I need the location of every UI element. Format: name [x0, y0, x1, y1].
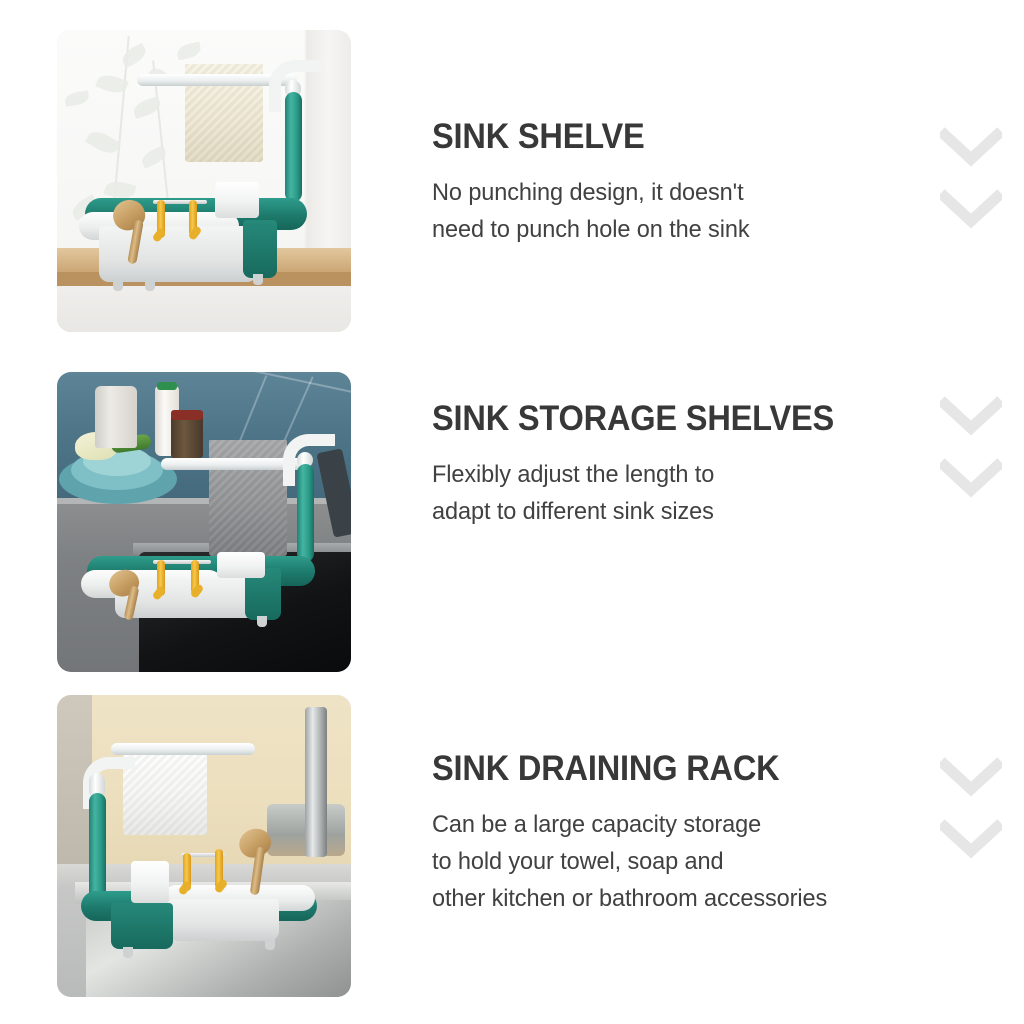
product-photo-sink-shelve	[57, 30, 351, 332]
feature-title: SINK STORAGE SHELVES	[432, 400, 897, 438]
feature-title: SINK SHELVE	[432, 118, 897, 156]
feature-row: SINK SHELVE No punching design, it doesn…	[0, 30, 1024, 332]
feature-description: No punching design, it doesn't need to p…	[432, 174, 912, 248]
feature-description: Flexibly adjust the length to adapt to d…	[432, 456, 912, 530]
basin-foot	[257, 616, 267, 627]
chevron-stack	[940, 125, 1010, 249]
feature-description: Can be a large capacity storage to hold …	[432, 806, 912, 917]
basin-foot	[145, 280, 155, 291]
chevron-down-icon	[940, 755, 1002, 799]
chevron-down-icon	[940, 394, 1002, 438]
product-photo-sink-storage-shelves	[57, 372, 351, 672]
towel	[123, 745, 207, 835]
feature-row: SINK DRAINING RACK Can be a large capaci…	[0, 695, 1024, 997]
feature-row: SINK STORAGE SHELVES Flexibly adjust the…	[0, 372, 1024, 672]
basin-foot	[265, 939, 275, 950]
basin-white	[99, 226, 257, 282]
sink-caddy-product	[57, 372, 351, 672]
post-green-section	[285, 92, 302, 202]
basin-foot	[253, 274, 263, 285]
post-green-section	[297, 464, 314, 562]
chevron-down-icon	[940, 125, 1002, 169]
basin-green-end	[243, 220, 277, 278]
sponge	[131, 861, 169, 903]
sink-caddy-product	[57, 695, 351, 997]
feature-title: SINK DRAINING RACK	[432, 750, 897, 788]
feature-text-column: SINK DRAINING RACK Can be a large capaci…	[432, 750, 932, 917]
basin-green-end	[111, 903, 173, 949]
towel-bar	[111, 743, 255, 755]
basin-white	[169, 899, 279, 941]
basin-foot	[113, 280, 123, 291]
basin-foot	[123, 947, 133, 958]
sponge	[217, 552, 265, 578]
product-photo-sink-draining-rack	[57, 695, 351, 997]
chevron-stack	[940, 755, 1010, 879]
infographic-page: SINK SHELVE No punching design, it doesn…	[0, 0, 1024, 1024]
feature-text-column: SINK SHELVE No punching design, it doesn…	[432, 118, 932, 248]
chevron-down-icon	[940, 456, 1002, 500]
chevron-down-icon	[940, 187, 1002, 231]
post-green-section	[89, 793, 106, 901]
chevron-stack	[940, 394, 1010, 518]
chevron-down-icon	[940, 817, 1002, 861]
sink-caddy-product	[57, 30, 351, 332]
feature-text-column: SINK STORAGE SHELVES Flexibly adjust the…	[432, 400, 932, 530]
sponge	[215, 182, 259, 218]
